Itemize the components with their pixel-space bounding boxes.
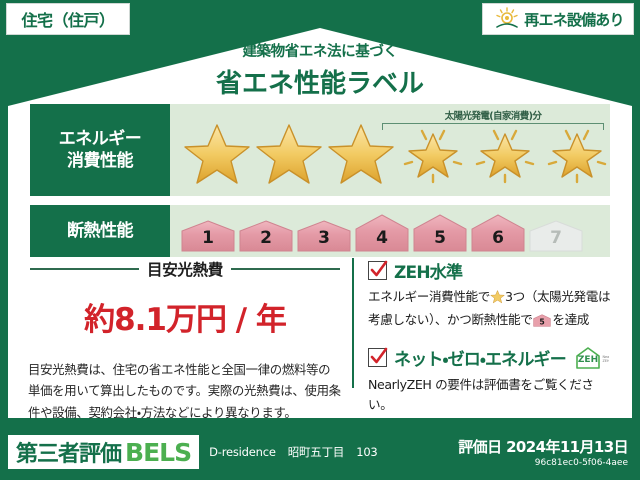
star-filled: [254, 120, 324, 186]
inline-grade-badge: 5: [533, 313, 551, 334]
zeh-panel: ZEH水準 エネルギー消費性能で3つ（太陽光発電は考慮しない）、かつ断熱性能で5…: [360, 258, 616, 406]
panel-divider: [346, 258, 360, 406]
utility-cost-note: 目安光熱費は、住宅の省エネ性能と全国一律の燃料等の単価を用いて算出したものです。…: [24, 359, 346, 423]
insulation-label-text: 断熱性能: [67, 220, 133, 242]
zeh-standard-body-part1: エネルギー消費性能で: [368, 289, 490, 304]
grade-number: 2: [238, 228, 294, 248]
zeh-standard-body-part4: を達成: [552, 312, 589, 327]
zeh-standard-body: エネルギー消費性能で3つ（太陽光発電は考慮しない）、かつ断熱性能で5を達成: [368, 287, 616, 335]
zeh-house-logo-icon: ZEH Nearly ZEH: [573, 345, 609, 371]
insulation-grade-5: 5: [412, 213, 468, 253]
evaluation-id: 96c81ec0-5f06-4aee: [458, 458, 628, 468]
solar-bracket-label: 太陽光発電(自家消費)分: [382, 108, 604, 122]
solar-bracket-line: [382, 123, 604, 130]
energy-label-line2: 消費性能: [67, 150, 133, 172]
bels-en-label: BELS: [125, 438, 191, 467]
insulation-performance-label: 断熱性能: [30, 205, 170, 257]
performance-area: エネルギー 消費性能 太陽光発電(自家消費)分: [30, 104, 610, 266]
svg-text:5: 5: [540, 318, 545, 327]
checkbox-checked-icon: [368, 348, 387, 367]
zeh-netzero-body: NearlyZEH の要件は評価書をご覧ください。: [368, 375, 616, 416]
zeh-standard-title: ZEH水準: [394, 258, 462, 283]
utility-cost-value: 約8.1万円 / 年: [24, 294, 346, 339]
badge-renewable-equipment: 再エネ設備あり: [482, 3, 634, 35]
badge-building-type: 住宅（住戸）: [6, 3, 130, 35]
energy-performance-label: 住宅（住戸） 再エネ設備あり 建築物省エネ法に基づく 省エネ性能ラベル: [0, 0, 640, 480]
utility-cost-heading: 目安光熱費: [24, 258, 346, 280]
property-unit: 103: [356, 445, 377, 459]
solar-bracket: 太陽光発電(自家消費)分: [382, 108, 604, 130]
zeh-netzero-title: ネット・ゼロ・エネルギー: [394, 345, 566, 370]
insulation-grade-scale: 1 2 3 4: [170, 205, 584, 257]
property-name: D-residence: [209, 445, 276, 459]
svg-text:ZEH: ZEH: [578, 355, 598, 365]
insulation-performance-value: 1 2 3 4: [170, 205, 610, 257]
svg-text:ZEH: ZEH: [602, 359, 609, 363]
insulation-grade-4: 4: [354, 213, 410, 253]
lower-panels: 目安光熱費 約8.1万円 / 年 目安光熱費は、住宅の省エネ性能と全国一律の燃料…: [24, 258, 616, 406]
grade-number: 5: [412, 228, 468, 248]
evaluation-date-label: 評価日: [458, 438, 501, 456]
sun-renewable-icon: [494, 7, 520, 31]
property-address: 昭町五丁目: [288, 444, 345, 460]
heading-rule-right: [231, 268, 340, 270]
zeh-standard-block: ZEH水準 エネルギー消費性能で3つ（太陽光発電は考慮しない）、かつ断熱性能で5…: [368, 258, 616, 335]
heading-rule-left: [30, 268, 139, 270]
page-title: 省エネ性能ラベル: [0, 63, 640, 100]
zeh-netzero-block: ネット・ゼロ・エネルギー ZEH Nearly ZEH NearlyZEH の要…: [368, 345, 616, 416]
utility-cost-heading-text: 目安光熱費: [147, 258, 223, 280]
insulation-grade-2: 2: [238, 219, 294, 253]
zeh-standard-body-part2: 3つ（太陽光発電: [505, 289, 598, 304]
bels-jp-label: 第三者評価: [16, 436, 121, 468]
insulation-grade-7: 7: [528, 219, 584, 253]
badge-renewable-label: 再エネ設備あり: [524, 9, 623, 30]
insulation-grade-6: 6: [470, 213, 526, 253]
checkbox-checked-icon: [368, 261, 387, 280]
grade-number: 7: [528, 228, 584, 248]
zeh-standard-heading: ZEH水準: [368, 258, 616, 283]
energy-performance-label: エネルギー 消費性能: [30, 104, 170, 196]
evaluation-date: 評価日 2024年11月13日: [458, 436, 628, 457]
star-filled: [182, 120, 252, 186]
utility-cost-panel: 目安光熱費 約8.1万円 / 年 目安光熱費は、住宅の省エネ性能と全国一律の燃料…: [24, 258, 346, 406]
insulation-grade-3: 3: [296, 219, 352, 253]
energy-performance-value: 太陽光発電(自家消費)分: [170, 104, 612, 196]
evaluation-info: 評価日 2024年11月13日 96c81ec0-5f06-4aee: [458, 436, 628, 468]
grade-number: 3: [296, 228, 352, 248]
row-energy-performance: エネルギー 消費性能 太陽光発電(自家消費)分: [30, 104, 610, 196]
footer-bar: 第三者評価 BELS D-residence 昭町五丁目 103 評価日 202…: [0, 424, 640, 480]
badge-building-type-label: 住宅（住戸）: [21, 7, 114, 31]
evaluation-date-value: 2024年11月13日: [506, 438, 628, 456]
row-insulation-performance: 断熱性能 1 2 3: [30, 205, 610, 257]
inline-star-icon: [490, 289, 505, 310]
property-info: D-residence 昭町五丁目 103: [209, 444, 377, 460]
zeh-netzero-heading: ネット・ゼロ・エネルギー ZEH Nearly ZEH: [368, 345, 616, 371]
energy-label-line1: エネルギー: [59, 128, 142, 150]
title-block: 建築物省エネ法に基づく 省エネ性能ラベル: [0, 40, 640, 100]
insulation-grade-1: 1: [180, 219, 236, 253]
bels-logo: 第三者評価 BELS: [8, 435, 199, 469]
grade-number: 1: [180, 228, 236, 248]
title-subtitle: 建築物省エネ法に基づく: [0, 40, 640, 61]
grade-number: 6: [470, 228, 526, 248]
grade-number: 4: [354, 228, 410, 248]
